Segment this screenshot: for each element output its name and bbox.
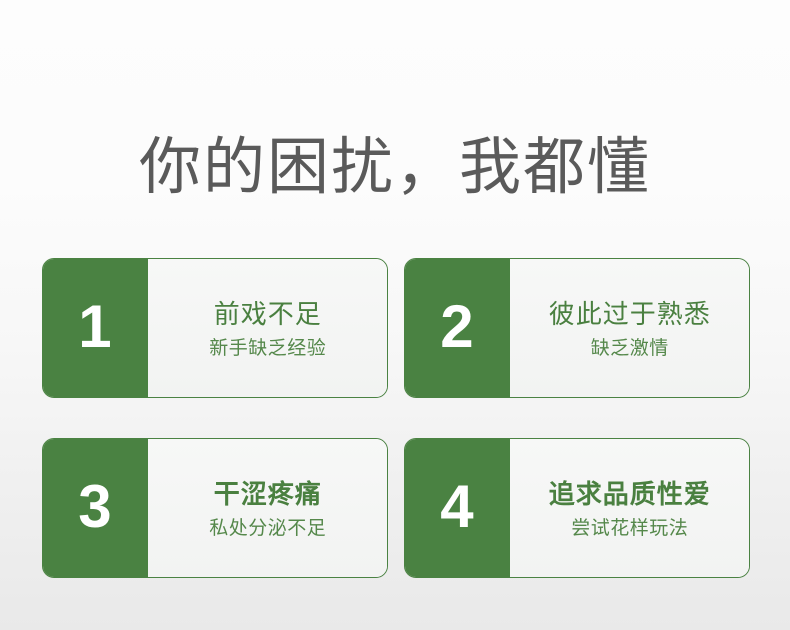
- card-body-1: 前戏不足 新手缺乏经验: [148, 259, 387, 397]
- card-body-4: 追求品质性爱 尝试花样玩法: [510, 439, 749, 577]
- card-subtitle-4: 尝试花样玩法: [571, 515, 688, 543]
- problem-card-grid: 1 前戏不足 新手缺乏经验 2 彼此过于熟悉 缺乏激情 3 干涩疼痛 私处分泌不…: [42, 258, 750, 580]
- card-subtitle-3: 私处分泌不足: [209, 515, 326, 543]
- card-number-badge-4: 4: [404, 438, 510, 578]
- card-number-4: 4: [440, 477, 473, 539]
- card-title-3: 干涩疼痛: [214, 477, 322, 511]
- card-number-1: 1: [78, 297, 111, 359]
- promo-page: 你的困扰，我都懂 1 前戏不足 新手缺乏经验 2 彼此过于熟悉 缺乏激情 3: [0, 0, 790, 630]
- card-number-2: 2: [440, 297, 473, 359]
- problem-card-2: 2 彼此过于熟悉 缺乏激情: [404, 258, 750, 398]
- card-body-2: 彼此过于熟悉 缺乏激情: [510, 259, 749, 397]
- card-number-badge-1: 1: [42, 258, 148, 398]
- card-title-1: 前戏不足: [214, 297, 322, 331]
- card-subtitle-1: 新手缺乏经验: [209, 335, 326, 363]
- problem-card-4: 4 追求品质性爱 尝试花样玩法: [404, 438, 750, 578]
- card-subtitle-2: 缺乏激情: [591, 335, 669, 363]
- card-title-4: 追求品质性爱: [549, 477, 711, 511]
- card-number-badge-3: 3: [42, 438, 148, 578]
- page-title: 你的困扰，我都懂: [0, 130, 790, 206]
- card-title-2: 彼此过于熟悉: [549, 297, 711, 331]
- problem-card-3: 3 干涩疼痛 私处分泌不足: [42, 438, 388, 578]
- card-number-badge-2: 2: [404, 258, 510, 398]
- card-number-3: 3: [78, 477, 111, 539]
- problem-card-1: 1 前戏不足 新手缺乏经验: [42, 258, 388, 398]
- card-body-3: 干涩疼痛 私处分泌不足: [148, 439, 387, 577]
